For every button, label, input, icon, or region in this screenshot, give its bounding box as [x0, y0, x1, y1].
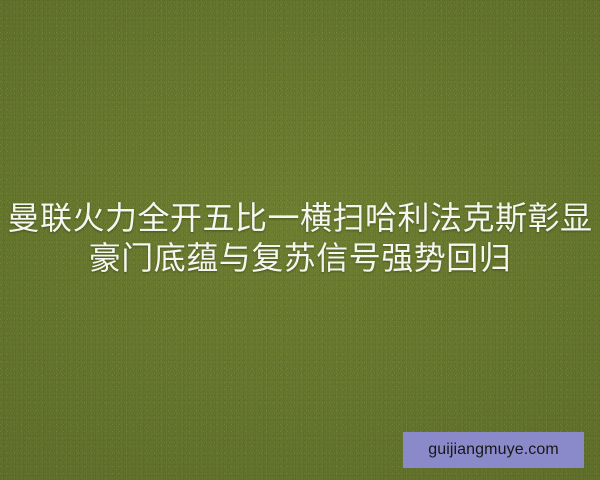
background-gradient: [0, 0, 600, 480]
cover-image-canvas: 曼联火力全开五比一横扫哈利法克斯彰显 豪门底蕴与复苏信号强势回归 guijian…: [0, 0, 600, 480]
background-speckle-texture: [0, 0, 600, 480]
watermark-text: guijiangmuye.com: [428, 442, 559, 458]
headline-line-1: 曼联火力全开五比一横扫哈利法克斯彰显: [0, 198, 600, 238]
background-noise-texture: [0, 0, 600, 480]
headline-title: 曼联火力全开五比一横扫哈利法克斯彰显 豪门底蕴与复苏信号强势回归: [0, 198, 600, 278]
watermark-badge: guijiangmuye.com: [403, 432, 584, 468]
headline-line-2: 豪门底蕴与复苏信号强势回归: [0, 238, 600, 278]
